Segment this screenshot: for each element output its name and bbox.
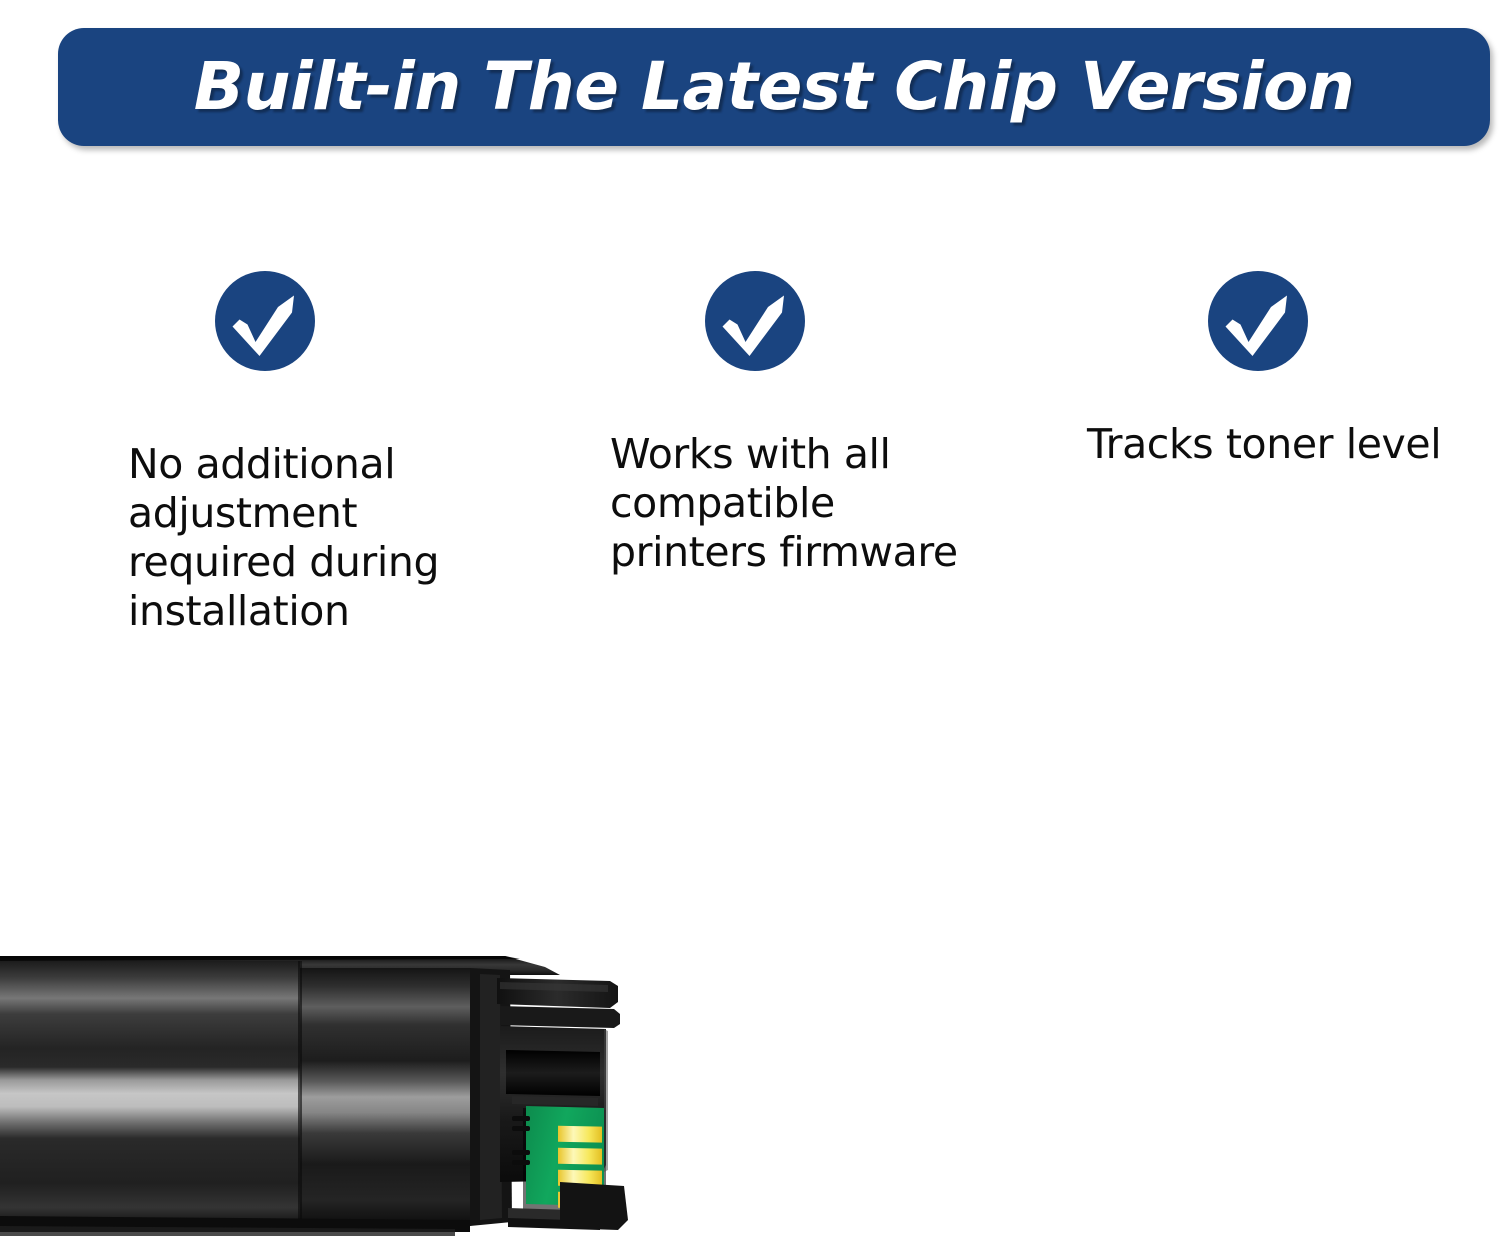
feature-label-1: No additional adjustment required during… (128, 440, 528, 636)
feature-list: No additional adjustment required during… (0, 270, 1500, 690)
feature-label-3: Tracks toner level (1087, 420, 1500, 469)
banner-title: Built-in The Latest Chip Version (58, 54, 1490, 120)
feature-label-2: Works with all compatible printers firmw… (610, 430, 1050, 577)
header-banner: Built-in The Latest Chip Version (58, 28, 1490, 146)
toner-cartridge-image (0, 930, 700, 1236)
check-circle-icon (1207, 270, 1309, 372)
check-circle-icon (704, 270, 806, 372)
check-circle-icon (214, 270, 316, 372)
